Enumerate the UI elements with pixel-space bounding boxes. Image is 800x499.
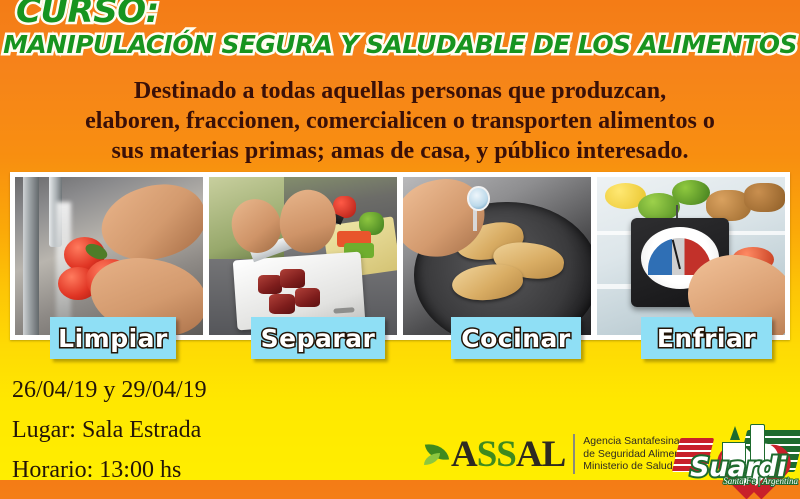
suardi-logo: Suardi Santa Fe | Argentina xyxy=(676,414,800,480)
photo-enfriar xyxy=(597,177,785,335)
photo-separar xyxy=(209,177,397,335)
step-label-separar-text: Separar xyxy=(261,324,376,353)
event-time: Horario: 13:00 hs xyxy=(12,450,207,490)
step-label-enfriar: Enfriar xyxy=(641,317,772,359)
step-label-cocinar-text: Cocinar xyxy=(461,324,570,353)
photo-limpiar xyxy=(15,177,203,335)
assal-wordmark-suffix: AL xyxy=(516,434,565,475)
title-block: CURSO: MANIPULACIÓN SEGURA Y SALUDABLE D… xyxy=(0,0,800,60)
lede-line-3: sus materias primas; amas de casa, y púb… xyxy=(0,136,800,166)
page-title-curso: CURSO: xyxy=(16,0,800,28)
lede-line-2: elaboren, fraccionen, comercialicen o tr… xyxy=(0,106,800,136)
assal-logo: ASSAL Agencia Santafesina de Seguridad A… xyxy=(424,428,701,480)
assal-leaf-icon xyxy=(424,437,450,471)
step-label-enfriar-text: Enfriar xyxy=(657,324,756,353)
step-label-limpiar: Limpiar xyxy=(50,317,176,359)
event-details: 26/04/19 y 29/04/19 Lugar: Sala Estrada … xyxy=(12,370,207,490)
event-dates: 26/04/19 y 29/04/19 xyxy=(12,370,207,410)
page-title-main: MANIPULACIÓN SEGURA Y SALUDABLE DE LOS A… xyxy=(0,30,800,60)
step-label-limpiar-text: Limpiar xyxy=(58,324,168,353)
assal-wordmark-prefix: A xyxy=(451,434,477,475)
lede-line-1: Destinado a todas aquellas personas que … xyxy=(0,76,800,106)
assal-wordmark-highlight: SS xyxy=(477,434,516,475)
step-label-cocinar: Cocinar xyxy=(451,317,581,359)
photo-cocinar xyxy=(403,177,591,335)
step-label-separar: Separar xyxy=(251,317,385,359)
assal-divider xyxy=(573,434,575,474)
assal-wordmark: ASSAL xyxy=(451,436,565,473)
course-flyer: CURSO: MANIPULACIÓN SEGURA Y SALUDABLE D… xyxy=(0,0,800,480)
event-location: Lugar: Sala Estrada xyxy=(12,410,207,450)
photo-strip xyxy=(10,172,790,340)
lede-paragraph: Destinado a todas aquellas personas que … xyxy=(0,76,800,166)
suardi-tagline: Santa Fe | Argentina xyxy=(723,476,798,486)
